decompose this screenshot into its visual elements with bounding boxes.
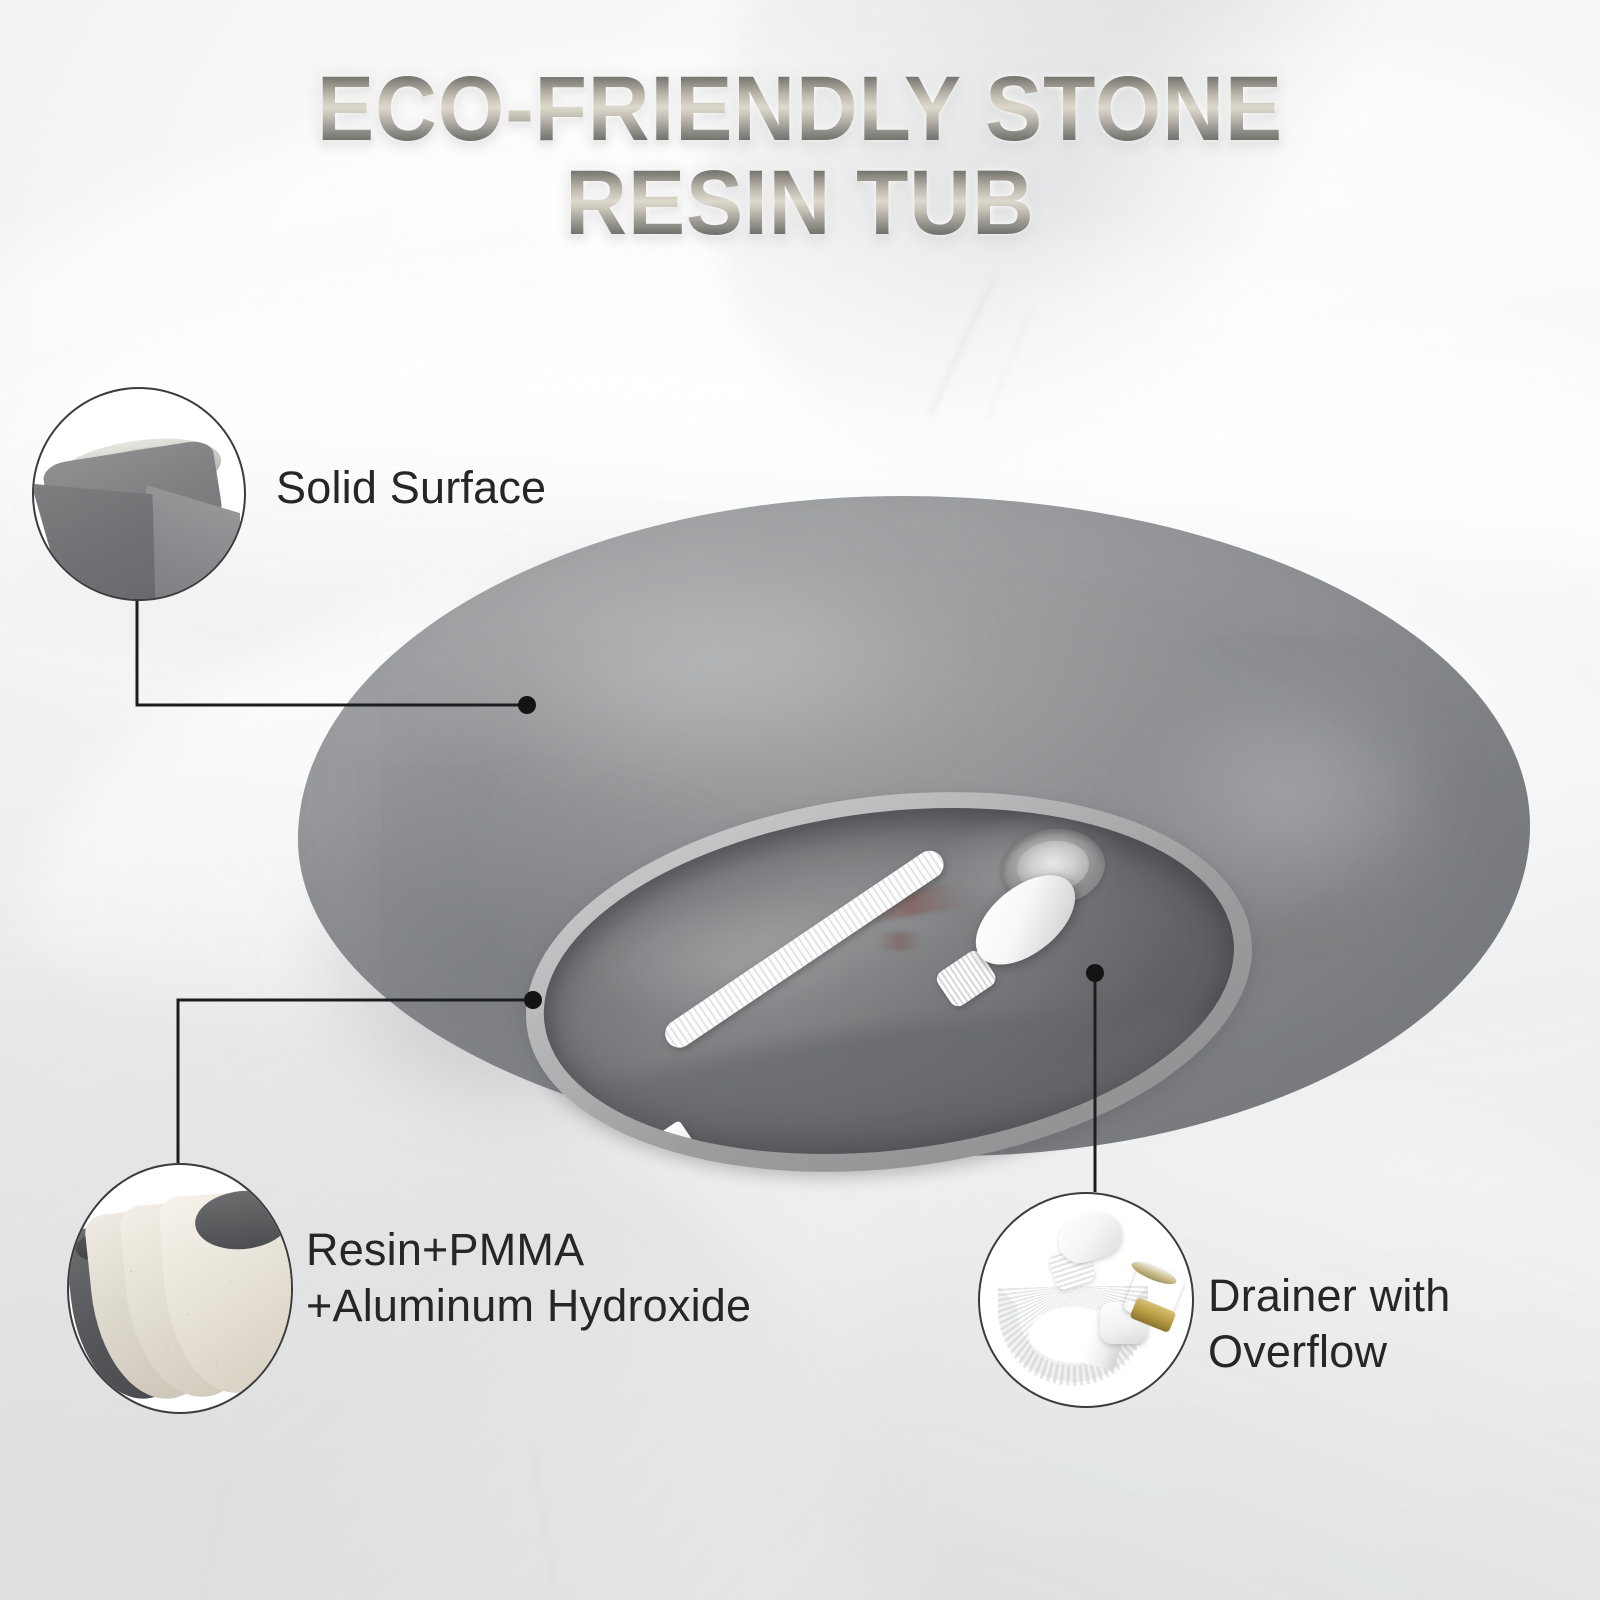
callout-label-material: Resin+PMMA +Aluminum Hydroxide	[306, 1222, 751, 1334]
callout-label-solid-surface: Solid Surface	[276, 460, 546, 516]
product-bathtub	[298, 496, 1530, 1176]
layered-material-icon-specks	[85, 1200, 293, 1407]
callout-label-drainer: Drainer with Overflow	[1208, 1268, 1450, 1380]
infographic-canvas: ECO-FRIENDLY STONE RESIN TUB	[0, 0, 1600, 1600]
callout-circle-solid-surface[interactable]	[32, 387, 246, 601]
factory-stamp-mark	[877, 932, 923, 951]
callout-circle-material[interactable]	[67, 1163, 293, 1414]
tub-cutaway-icon-edge	[146, 485, 240, 601]
callout-circle-drainer[interactable]	[978, 1192, 1194, 1408]
